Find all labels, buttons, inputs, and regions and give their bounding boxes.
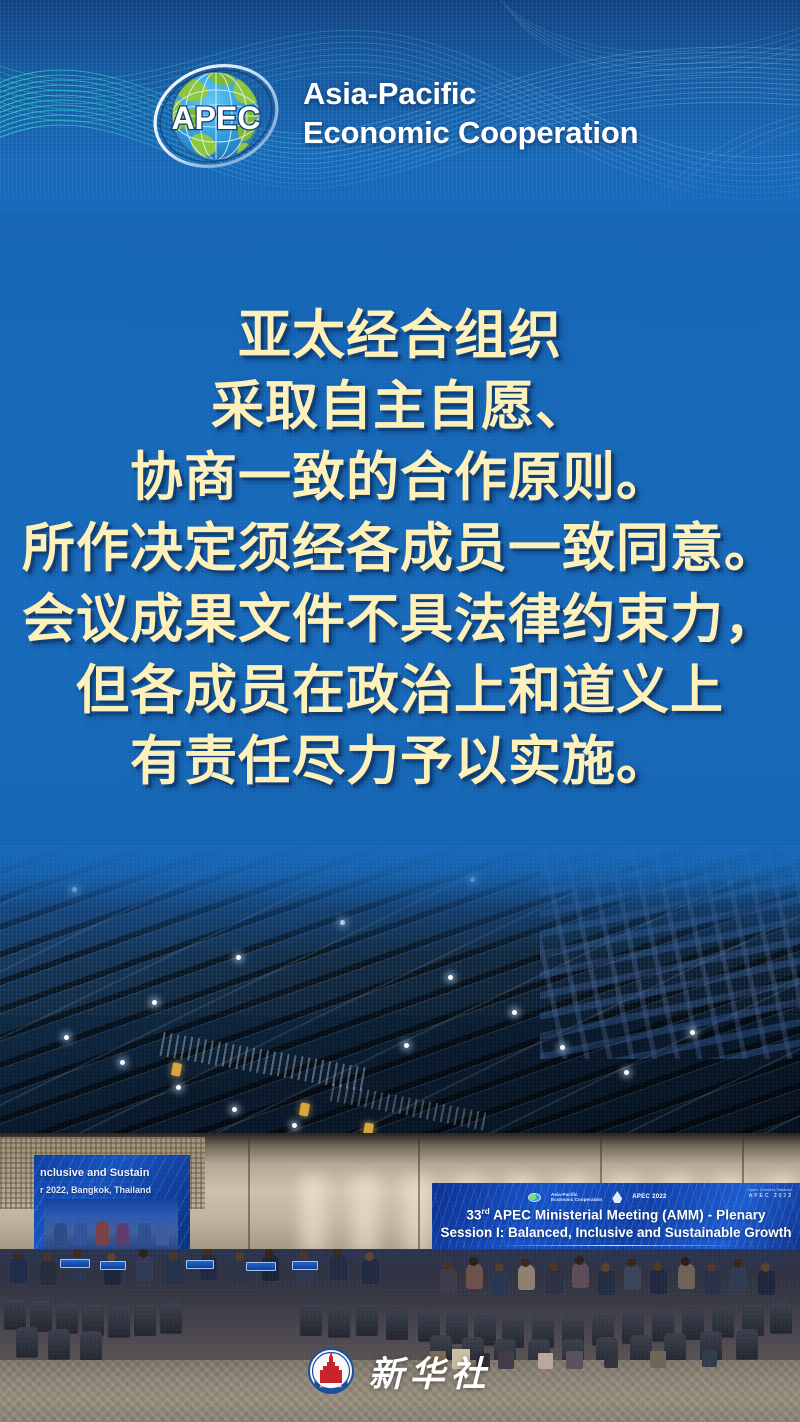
banner-title-line1: 33rd APEC Ministerial Meeting (AMM) - Pl… xyxy=(432,1207,800,1223)
banner-title-line2: Session I: Balanced, Inclusive and Susta… xyxy=(432,1225,800,1240)
quote-line-3: 协商一致的合作原则。 xyxy=(0,442,800,513)
banner-year-text: APEC 2022 xyxy=(632,1194,666,1200)
xinhua-agency-name: 新华社 xyxy=(368,1346,491,1397)
xinhua-logo-icon: XINHUA xyxy=(308,1348,354,1394)
header-fade xyxy=(0,152,800,212)
banner-divider xyxy=(496,1245,736,1246)
left-screen-line1: nclusive and Sustain xyxy=(40,1167,190,1179)
header-band: APEC Asia-Pacific Economic Cooperation xyxy=(0,0,800,212)
quote-line-6: 但各成员在政治上和道义上 xyxy=(0,655,800,726)
apec-title-line2: Economic Cooperation xyxy=(303,113,773,152)
xinhua-watermark: XINHUA 新华社 xyxy=(0,1342,800,1400)
quote-line-7: 有责任尽力予以实施。 xyxy=(0,726,800,797)
apec-globe-wordmark: APEC xyxy=(172,100,261,136)
left-screen-line2: r 2022, Bangkok, Thailand xyxy=(40,1185,190,1195)
quote-line-4: 所作决定须经各成员一致同意。 xyxy=(0,513,800,584)
quote-line-5: 会议成果文件不具法律约束力， xyxy=(0,584,800,655)
banner-corner-mark: Open. Connect. Balance. APEC 2022 xyxy=(748,1188,793,1200)
conference-photo: nclusive and Sustain r 2022, Bangkok, Th… xyxy=(0,845,800,1422)
hall-ceiling xyxy=(0,845,800,1145)
left-screen-video-feed xyxy=(44,1199,178,1253)
quote-line-2: 采取自主自愿、 xyxy=(0,371,800,442)
banner-apec-text: Asia-Pacific Economic Cooperation xyxy=(551,1192,602,1202)
quote-block: 亚太经合组织 采取自主自愿、 协商一致的合作原则。 所作决定须经各成员一致同意。… xyxy=(0,300,800,797)
apec-org-title: Asia-Pacific Economic Cooperation xyxy=(303,74,773,152)
banner-logo-row: Asia-Pacific Economic Cooperation APEC 2… xyxy=(528,1189,708,1205)
xinhua-logo-text: XINHUA xyxy=(320,1383,343,1389)
left-projection-screen: nclusive and Sustain r 2022, Bangkok, Th… xyxy=(34,1155,190,1263)
banner-thai-drop-icon xyxy=(612,1191,622,1203)
banner-apec-globe-icon xyxy=(528,1193,541,1202)
quote-line-1: 亚太经合组织 xyxy=(0,300,800,371)
poster-root: APEC Asia-Pacific Economic Cooperation 亚… xyxy=(0,0,800,1422)
apec-title-line1: Asia-Pacific xyxy=(303,76,476,111)
